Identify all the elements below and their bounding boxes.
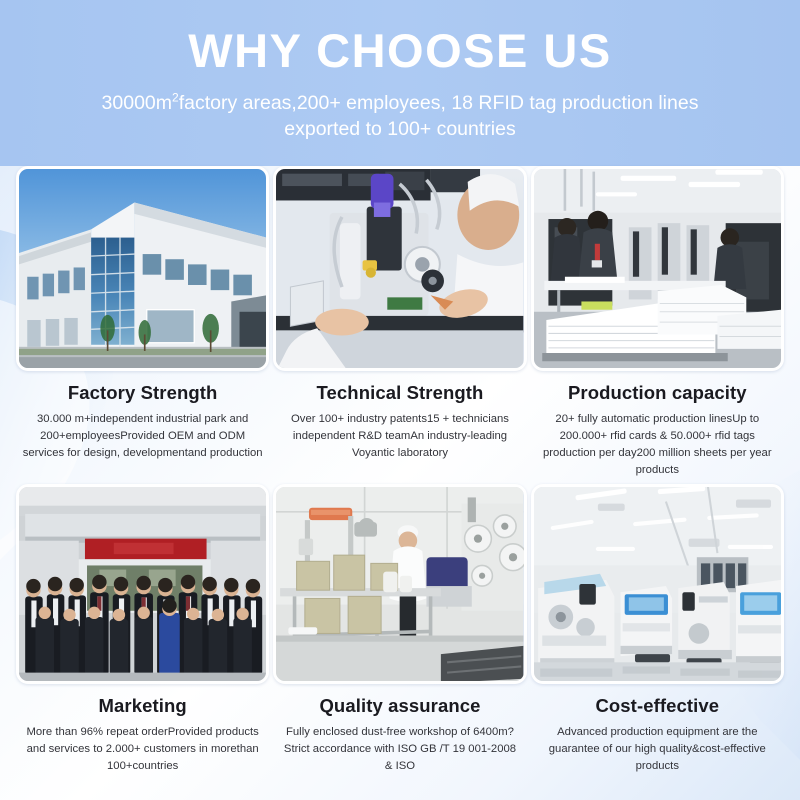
- card-body: More than 96% repeat orderProvided produ…: [18, 724, 268, 775]
- square-meter-superscript: 2: [172, 90, 179, 104]
- card-title: Production capacity: [568, 382, 747, 404]
- feature-card-marketing: Marketing More than 96% repeat orderProv…: [16, 484, 269, 775]
- subtitle-line-2: exported to 100+ countries: [20, 116, 780, 142]
- subtitle-line-1: 30000m2factory areas,200+ employees, 18 …: [102, 92, 699, 114]
- feature-card-technical-strength: Technical Strength Over 100+ industry pa…: [273, 166, 526, 480]
- feature-card-production-capacity: Production capacity 20+ fully automatic …: [531, 166, 784, 480]
- card-body: 20+ fully automatic production linesUp t…: [532, 411, 782, 480]
- technician-precision-machine-photo: [273, 166, 526, 371]
- card-title: Cost-effective: [595, 695, 719, 717]
- card-title: Technical Strength: [317, 382, 484, 404]
- feature-grid-row-2: Marketing More than 96% repeat orderProv…: [0, 484, 800, 775]
- card-body: Over 100+ industry patents15 + technicia…: [275, 411, 525, 462]
- automated-machines-hall-photo: [531, 484, 784, 684]
- printing-workshop-paper-stacks-photo: [531, 166, 784, 371]
- card-body: Fully enclosed dust-free workshop of 640…: [275, 724, 525, 775]
- feature-card-cost-effective: Cost-effective Advanced production equip…: [531, 484, 784, 775]
- factory-building-photo: [16, 166, 269, 371]
- subtitle-area-value: 30000m: [102, 92, 172, 114]
- subtitle-line-1-rest: factory areas,200+ employees, 18 RFID ta…: [179, 92, 699, 114]
- feature-card-quality-assurance: Quality assurance Fully enclosed dust-fr…: [273, 484, 526, 775]
- company-team-group-photo: [16, 484, 269, 684]
- dust-free-workshop-worker-photo: [273, 484, 526, 684]
- card-title: Quality assurance: [319, 695, 480, 717]
- card-title: Marketing: [99, 695, 187, 717]
- feature-card-factory-strength: Factory Strength 30.000 m+independent in…: [16, 166, 269, 480]
- page-subtitle: 30000m2factory areas,200+ employees, 18 …: [20, 89, 780, 142]
- card-body: Advanced production equipment are the gu…: [532, 724, 782, 775]
- card-body: 30.000 m+independent industrial park and…: [18, 411, 268, 462]
- page-header: WHY CHOOSE US 30000m2factory areas,200+ …: [0, 0, 800, 166]
- page-title: WHY CHOOSE US: [188, 26, 611, 75]
- card-title: Factory Strength: [68, 382, 218, 404]
- feature-grid-row-1: Factory Strength 30.000 m+independent in…: [0, 166, 800, 480]
